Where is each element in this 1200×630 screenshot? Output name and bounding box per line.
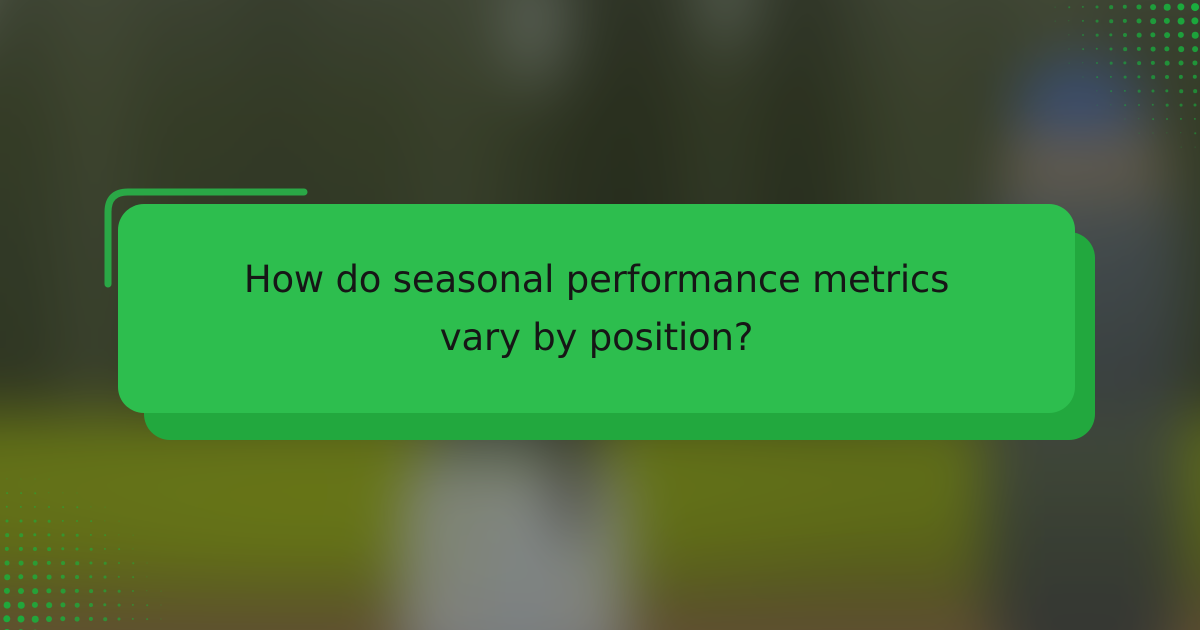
question-text: How do seasonal performance metrics vary… [132,251,1062,366]
question-card-banner: How do seasonal performance metrics vary… [0,0,1200,630]
question-card-front[interactable]: How do seasonal performance metrics vary… [118,204,1075,413]
